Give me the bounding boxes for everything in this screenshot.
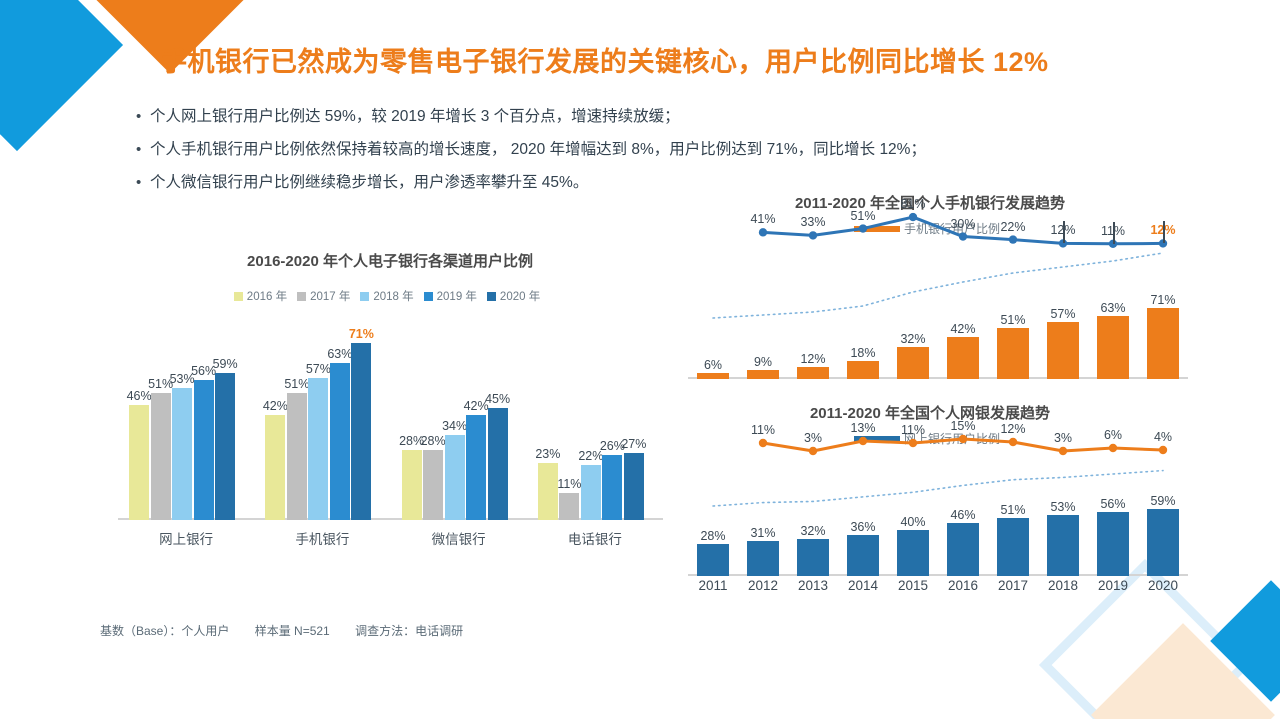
bar-2016 [947, 337, 979, 379]
growth-value-label: 51% [839, 209, 887, 223]
x-tick-label: 2017 [988, 578, 1038, 593]
bar-微信银行-2020年 [488, 408, 508, 521]
bar-value-label: 18% [835, 346, 891, 360]
slide-canvas: 手机银行已然成为零售电子银行发展的关键核心，用户比例同比增长 12% • 个人网… [0, 0, 1280, 719]
line-marker [1159, 446, 1167, 454]
growth-value-label: 33% [789, 215, 837, 229]
legend-item: 2019 年 [424, 288, 477, 304]
growth-value-label: 3% [1039, 431, 1087, 445]
bar-value-label: 46% [935, 508, 991, 522]
bar-value-label: 59% [207, 357, 243, 371]
legend-item: 2020 年 [487, 288, 540, 304]
growth-value-label: 11% [889, 423, 937, 437]
bar-value-label: 28% [685, 529, 741, 543]
growth-value-label: 11% [739, 423, 787, 437]
bar-value-label: 42% [935, 322, 991, 336]
bar-value-label: 12% [785, 352, 841, 366]
bar-value-label: 71% [1135, 293, 1191, 307]
bar-value-label: 40% [885, 515, 941, 529]
bullet-marker-icon: • [136, 139, 150, 161]
growth-value-label: 13% [839, 421, 887, 435]
footnote-base: 基数（Base）：个人用户 [100, 624, 229, 638]
legend-label: 2016 年 [247, 288, 287, 304]
chart-plot-area: 46%51%53%56%59%网上银行42%51%57%63%71%手机银行28… [118, 320, 663, 520]
x-tick-label: 2018 [1038, 578, 1088, 593]
bar-手机银行-2016年 [265, 415, 285, 520]
x-tick-label: 2012 [738, 578, 788, 593]
bar-2012 [747, 541, 779, 576]
bar-2018 [1047, 322, 1079, 379]
growth-value-label: 41% [739, 212, 787, 226]
chart-mobile-banking-trend: 2011-2020 年全国个人手机银行发展趋势 手机银行用户比例 6%9%12%… [660, 192, 1200, 387]
bar-value-label: 36% [835, 520, 891, 534]
bar-手机银行-2017年 [287, 393, 307, 521]
dropline [1163, 221, 1165, 243]
legend-item: 2018 年 [360, 288, 413, 304]
bullet-list: • 个人网上银行用户比例达 59%，较 2019 年增长 3 个百分点，增速持续… [136, 106, 996, 205]
bar-value-label: 23% [530, 447, 566, 461]
bar-value-label: 9% [735, 355, 791, 369]
bar-2011 [697, 544, 729, 576]
bar-value-label: 6% [685, 358, 741, 372]
growth-value-label: 81% [889, 197, 937, 211]
list-item: • 个人微信银行用户比例继续稳步增长，用户渗透率攀升至 45%。 [136, 172, 996, 194]
bar-2020 [1147, 509, 1179, 576]
legend-label: 2020 年 [500, 288, 540, 304]
footnote-sample: 样本量 N=521 [255, 624, 330, 638]
legend-label: 2017 年 [310, 288, 350, 304]
bar-手机银行-2018年 [308, 378, 328, 521]
bar-2013 [797, 539, 829, 576]
category-label: 电话银行 [527, 528, 663, 548]
bar-value-label: 53% [1035, 500, 1091, 514]
bar-value-label: 59% [1135, 494, 1191, 508]
bar-2017 [997, 328, 1029, 379]
chart-legend: 2016 年2017 年2018 年2019 年2020 年 [100, 288, 680, 304]
x-tick-label: 2016 [938, 578, 988, 593]
legend-swatch [487, 292, 496, 301]
x-tick-label: 2014 [838, 578, 888, 593]
page-title: 手机银行已然成为零售电子银行发展的关键核心，用户比例同比增长 12% [160, 40, 1049, 79]
x-tick-label: 2013 [788, 578, 838, 593]
x-axis-tick-labels: 2011201220132014201520162017201820192020 [688, 578, 1188, 600]
bar-value-label: 27% [616, 437, 652, 451]
chart-channel-user-share: 2016-2020 年个人电子银行各渠道用户比例 2016 年2017 年201… [100, 250, 680, 550]
bar-value-label: 45% [480, 392, 516, 406]
x-tick-label: 2020 [1138, 578, 1188, 593]
bar-value-label: 71% [343, 327, 379, 341]
bar-2012 [747, 370, 779, 379]
bar-2014 [847, 535, 879, 576]
x-tick-label: 2015 [888, 578, 938, 593]
bar-value-label: 31% [735, 526, 791, 540]
bar-value-label: 51% [985, 313, 1041, 327]
legend-label: 2019 年 [437, 288, 477, 304]
chart-online-banking-trend: 2011-2020 年全国个人网银发展趋势 网上银行用户比例 28%31%32%… [660, 402, 1200, 597]
bar-value-label: 56% [1085, 497, 1141, 511]
bar-电话银行-2017年 [559, 493, 579, 521]
bar-微信银行-2019年 [466, 415, 486, 520]
bar-2015 [897, 530, 929, 576]
chart-title: 2011-2020 年全国个人网银发展趋势 [660, 402, 1200, 423]
bar-2011 [697, 373, 729, 379]
bar-2014 [847, 361, 879, 379]
bar-微信银行-2016年 [402, 450, 422, 520]
bar-2017 [997, 518, 1029, 576]
footnote-method: 调查方法：电话调研 [355, 624, 463, 638]
bar-电话银行-2016年 [538, 463, 558, 521]
chart-title: 2016-2020 年个人电子银行各渠道用户比例 [100, 250, 680, 271]
growth-value-label: 30% [939, 217, 987, 231]
growth-value-label: 3% [789, 431, 837, 445]
bar-2020 [1147, 308, 1179, 379]
bar-网上银行-2017年 [151, 393, 171, 521]
growth-value-label: 6% [1089, 428, 1137, 442]
bar-微信银行-2018年 [445, 435, 465, 520]
x-tick-label: 2019 [1088, 578, 1138, 593]
bar-电话银行-2019年 [602, 455, 622, 520]
legend-label: 2018 年 [373, 288, 413, 304]
bar-2019 [1097, 512, 1129, 576]
bar-2019 [1097, 316, 1129, 379]
bar-电话银行-2018年 [581, 465, 601, 520]
bar-网上银行-2018年 [172, 388, 192, 521]
bar-2016 [947, 523, 979, 576]
bullet-text: 个人手机银行用户比例依然保持着较高的增长速度， 2020 年增幅达到 8%，用户… [150, 139, 926, 161]
bar-手机银行-2020年 [351, 343, 371, 521]
decorative-diamond-blue-top-left [0, 0, 123, 151]
bullet-marker-icon: • [136, 106, 150, 128]
bar-value-label: 32% [885, 332, 941, 346]
growth-value-label: 12% [989, 422, 1037, 436]
bar-手机银行-2019年 [330, 363, 350, 521]
legend-swatch [854, 226, 900, 232]
bar-微信银行-2017年 [423, 450, 443, 520]
footnote: 基数（Base）：个人用户 样本量 N=521 调查方法：电话调研 [100, 622, 485, 639]
x-tick-label: 2011 [688, 578, 738, 593]
bar-网上银行-2020年 [215, 373, 235, 521]
dropline [1113, 222, 1115, 244]
bar-2013 [797, 367, 829, 379]
chart-plot-area: 28%31%32%36%40%46%51%53%56%59%11%3%13%11… [688, 458, 1188, 576]
legend-swatch [297, 292, 306, 301]
category-label: 手机银行 [254, 528, 390, 548]
legend-item: 2016 年 [234, 288, 287, 304]
line-marker [809, 447, 817, 455]
dropline [1063, 221, 1065, 243]
list-item: • 个人网上银行用户比例达 59%，较 2019 年增长 3 个百分点，增速持续… [136, 106, 996, 128]
bar-value-label: 32% [785, 524, 841, 538]
bullet-marker-icon: • [136, 172, 150, 194]
bar-value-label: 57% [1035, 307, 1091, 321]
list-item: • 个人手机银行用户比例依然保持着较高的增长速度， 2020 年增幅达到 8%，… [136, 139, 996, 161]
growth-value-label: 4% [1139, 430, 1187, 444]
category-label: 网上银行 [118, 528, 254, 548]
bullet-text: 个人微信银行用户比例继续稳步增长，用户渗透率攀升至 45%。 [150, 172, 588, 194]
growth-value-label: 15% [939, 419, 987, 433]
bullet-text: 个人网上银行用户比例达 59%，较 2019 年增长 3 个百分点，增速持续放缓… [150, 106, 680, 128]
legend-item: 2017 年 [297, 288, 350, 304]
legend-swatch [360, 292, 369, 301]
bar-电话银行-2020年 [624, 453, 644, 521]
legend-swatch [424, 292, 433, 301]
bar-网上银行-2019年 [194, 380, 214, 520]
line-marker [1059, 447, 1067, 455]
bar-2018 [1047, 515, 1079, 576]
bar-网上银行-2016年 [129, 405, 149, 520]
legend-swatch [234, 292, 243, 301]
bar-value-label: 51% [985, 503, 1041, 517]
chart-plot-area: 6%9%12%18%32%42%51%57%63%71%41%33%51%81%… [688, 244, 1188, 379]
category-label: 微信银行 [391, 528, 527, 548]
growth-value-label: 22% [989, 220, 1037, 234]
bar-2015 [897, 347, 929, 379]
bar-value-label: 63% [1085, 301, 1141, 315]
